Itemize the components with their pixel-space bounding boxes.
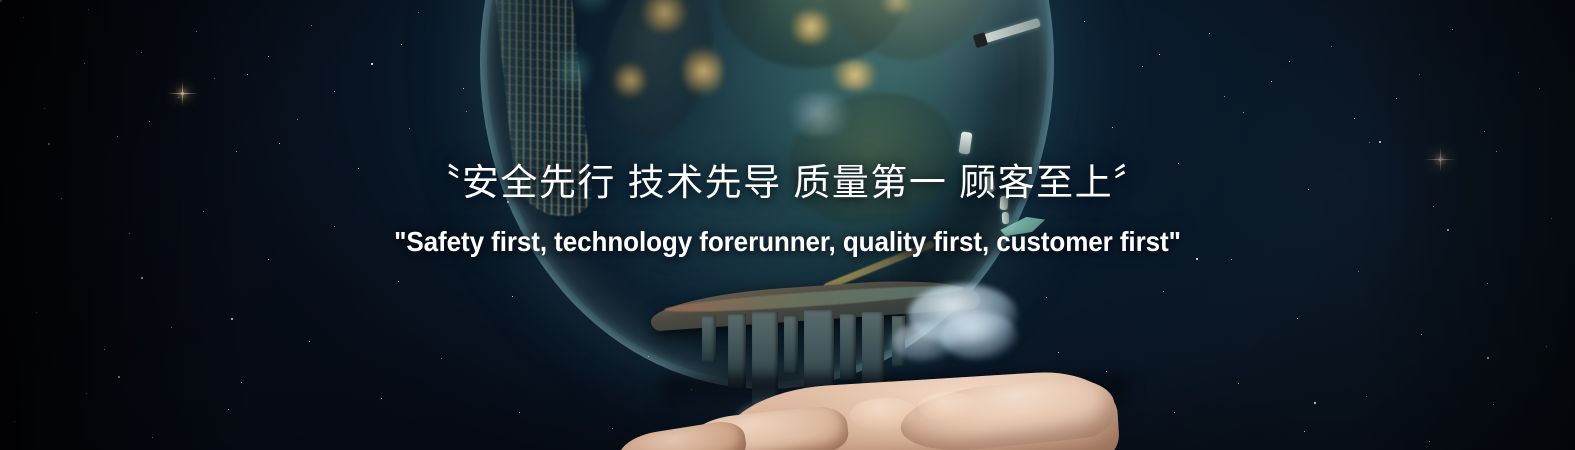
slogan-text-block: 〝安全先行 技术先导 质量第一 顾客至上〞 "Safety first, tec… xyxy=(0,160,1575,261)
slogan-chinese: 〝安全先行 技术先导 质量第一 顾客至上〞 xyxy=(0,160,1575,206)
city-light-cluster xyxy=(877,0,917,14)
sparkle-star-icon xyxy=(181,92,184,95)
city-light-cluster xyxy=(827,60,883,90)
slogan-english: "Safety first, technology forerunner, qu… xyxy=(55,223,1520,261)
city-light-cluster xyxy=(637,0,691,32)
rim-light-teal xyxy=(571,0,611,20)
city-light-cluster xyxy=(683,42,723,100)
hero-slogan-banner: 〝安全先行 技术先导 质量第一 顾客至上〞 "Safety first, tec… xyxy=(0,0,1575,450)
star-layer-near xyxy=(0,0,2,2)
cloud-wisp xyxy=(783,92,855,136)
city-light-cluster xyxy=(613,60,647,100)
city-light-cluster xyxy=(787,10,835,44)
